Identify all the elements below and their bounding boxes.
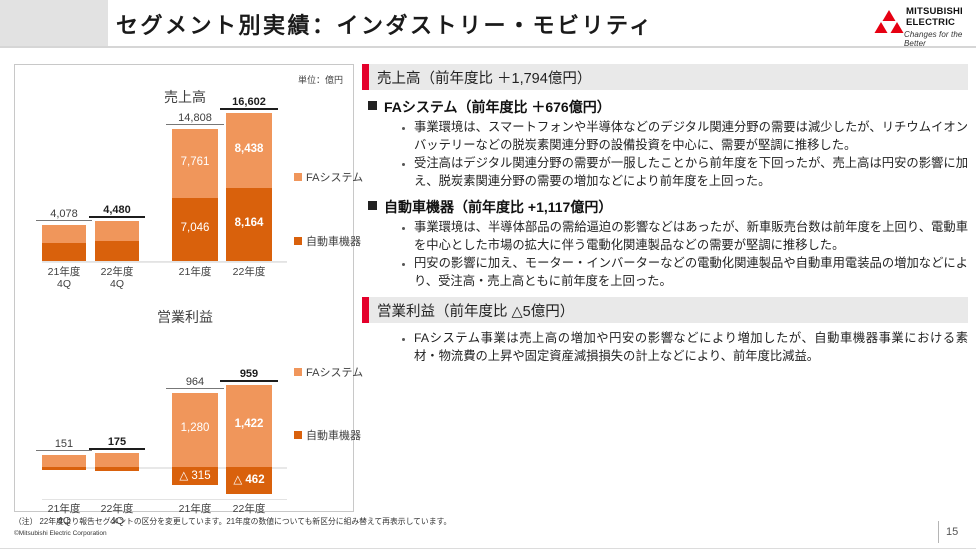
- legend-label: 自動車機器: [306, 236, 361, 248]
- fa-segment-value: 8,438: [226, 143, 272, 155]
- bar-segment-fa: [95, 453, 139, 467]
- legend-item-fa-system: FAシステム: [294, 169, 363, 185]
- legend-item-automotive: 自動車機器: [294, 427, 361, 443]
- automotive-segment-value: 7,046: [172, 222, 218, 234]
- bullet-text: 円安の影響に加え、モーター・インバーターなどの電動化関連製品や自動車用電装品の増…: [414, 255, 968, 290]
- charts-panel: 単位：億円 売上高 4,07821年度4Q4,48022年度4Q14,8087,…: [14, 64, 354, 512]
- section-accent-bar: [362, 64, 369, 90]
- chart-axis-line: [42, 499, 287, 500]
- total-value-label: 959: [220, 368, 278, 382]
- footnote: （注） 22年度より報告セグメントの区分を変更しています。21年度の数値について…: [14, 516, 451, 527]
- header-divider: [0, 46, 976, 48]
- category-label: 21年度: [164, 503, 226, 515]
- legend-swatch: [294, 431, 302, 439]
- bullet-dot-icon: [402, 338, 405, 341]
- operating-profit-chart: 営業利益 15121年度4Q17522年度4Q9641,280△ 31521年度…: [15, 287, 355, 513]
- bullet-text: FAシステム事業は売上高の増加や円安の影響などにより増加したが、自動車機器事業に…: [414, 330, 968, 365]
- section-heading-text: 売上高（前年度比 ＋1,794億円）: [369, 67, 591, 88]
- sub-heading-text: 自動車機器（前年度比 +1,117億円）: [384, 197, 612, 217]
- legend-swatch: [294, 368, 302, 376]
- bullet-dot-icon: [402, 127, 405, 130]
- legend-label: FAシステム: [306, 367, 363, 379]
- category-label: 22年度: [218, 266, 280, 278]
- bullet-dot-icon: [402, 227, 405, 230]
- bullet-list: 事業環境は、半導体部品の需給逼迫の影響などはあったが、新車販売台数は前年度を上回…: [402, 219, 968, 290]
- sub-heading: FAシステム（前年度比 ＋676億円）: [368, 97, 968, 117]
- category-label-line1: 22年度: [87, 503, 147, 515]
- bar-segment-auto-negative: [42, 467, 86, 470]
- bullet-text: 事業環境は、スマートフォンや半導体などのデジタル関連分野の需要は減少したが、リチ…: [414, 119, 968, 154]
- list-item: FAシステム事業は売上高の増加や円安の影響などにより増加したが、自動車機器事業に…: [402, 330, 968, 365]
- automotive-segment-value: △ 462: [226, 472, 272, 486]
- fa-segment-value: 1,422: [226, 418, 272, 430]
- automotive-segment-value: 8,164: [226, 217, 272, 229]
- square-bullet-icon: [368, 101, 377, 110]
- copyright: ©Mitsubishi Electric Corporation: [14, 530, 107, 537]
- slide-header: セグメント別実績：インダストリー・モビリティ MITSUBISHI ELECTR…: [0, 0, 976, 48]
- page-number-divider: [938, 521, 939, 543]
- slide: セグメント別実績：インダストリー・モビリティ MITSUBISHI ELECTR…: [0, 0, 976, 551]
- list-item: 事業環境は、半導体部品の需給逼迫の影響などはあったが、新車販売台数は前年度を上回…: [402, 219, 968, 254]
- mitsubishi-diamond-icon: [874, 9, 904, 33]
- bar-segment-auto-negative: [95, 467, 139, 471]
- fa-segment-value: 7,761: [172, 156, 218, 168]
- commentary-panel: 売上高（前年度比 ＋1,794億円）FAシステム（前年度比 ＋676億円）事業環…: [362, 64, 968, 366]
- mitsubishi-electric-logo: MITSUBISHI ELECTRIC Changes for the Bett…: [874, 6, 972, 42]
- square-bullet-icon: [368, 201, 377, 210]
- legend-label: FAシステム: [306, 172, 363, 184]
- category-label: 21年度: [164, 266, 226, 278]
- category-label: 22年度: [218, 503, 280, 515]
- bar-segment-fa: [95, 221, 139, 241]
- automotive-segment-value: △ 315: [172, 468, 218, 482]
- logo-wordmark: MITSUBISHI ELECTRIC: [906, 7, 963, 28]
- profit-chart-title: 営業利益: [15, 307, 355, 327]
- page-number: 15: [946, 526, 958, 538]
- legend-swatch: [294, 237, 302, 245]
- chart-axis-line: [42, 261, 287, 262]
- bar-segment-fa: [42, 225, 86, 244]
- total-value-label: 964: [166, 376, 224, 389]
- total-value-label: 14,808: [166, 112, 224, 125]
- list-item: 円安の影響に加え、モーター・インバーターなどの電動化関連製品や自動車用電装品の増…: [402, 255, 968, 290]
- page-title: セグメント別実績：インダストリー・モビリティ: [116, 8, 654, 40]
- total-value-label: 16,602: [220, 96, 278, 110]
- bullet-text: 受注高はデジタル関連分野の需要が一服したことから前年度を下回ったが、売上高は円安…: [414, 155, 968, 190]
- sales-revenue-chart: 売上高 4,07821年度4Q4,48022年度4Q14,8087,7617,0…: [15, 65, 355, 287]
- total-value-label: 4,480: [89, 204, 145, 218]
- legend-item-fa-system: FAシステム: [294, 364, 363, 380]
- section-accent-bar: [362, 297, 369, 323]
- sales-chart-title: 売上高: [15, 87, 355, 107]
- total-value-label: 175: [89, 436, 145, 450]
- bar-segment-auto: [95, 241, 139, 261]
- bullet-dot-icon: [402, 263, 405, 266]
- section-heading-text: 営業利益（前年度比 △5億円）: [369, 300, 574, 321]
- bullet-list: 事業環境は、スマートフォンや半導体などのデジタル関連分野の需要は減少したが、リチ…: [402, 119, 968, 190]
- total-value-label: 4,078: [36, 208, 92, 221]
- category-label-line1: 22年度: [218, 503, 280, 515]
- category-label-line1: 21年度: [34, 503, 94, 515]
- bullet-text: 事業環境は、半導体部品の需給逼迫の影響などはあったが、新車販売台数は前年度を上回…: [414, 219, 968, 254]
- fa-segment-value: 1,280: [172, 422, 218, 434]
- list-item: 受注高はデジタル関連分野の需要が一服したことから前年度を下回ったが、売上高は円安…: [402, 155, 968, 190]
- legend-item-automotive: 自動車機器: [294, 233, 361, 249]
- header-gray-band: [0, 0, 108, 46]
- sub-heading: 自動車機器（前年度比 +1,117億円）: [368, 197, 968, 217]
- list-item: 事業環境は、スマートフォンや半導体などのデジタル関連分野の需要は減少したが、リチ…: [402, 119, 968, 154]
- section-heading: 売上高（前年度比 ＋1,794億円）: [362, 64, 968, 90]
- category-label-line1: 22年度: [218, 266, 280, 278]
- category-label-line1: 21年度: [34, 266, 94, 278]
- category-label-line1: 22年度: [87, 266, 147, 278]
- bar-segment-auto: [42, 243, 86, 261]
- logo-tagline: Changes for the Better: [904, 30, 972, 48]
- sub-heading-text: FAシステム（前年度比 ＋676億円）: [384, 97, 611, 117]
- legend-swatch: [294, 173, 302, 181]
- logo-line-1: MITSUBISHI: [906, 7, 963, 18]
- section-heading: 営業利益（前年度比 △5億円）: [362, 297, 968, 323]
- category-label-line1: 21年度: [164, 266, 226, 278]
- bar-segment-fa: [42, 455, 86, 467]
- bullet-list: FAシステム事業は売上高の増加や円安の影響などにより増加したが、自動車機器事業に…: [402, 330, 968, 365]
- bullet-dot-icon: [402, 163, 405, 166]
- bottom-divider: [0, 548, 976, 549]
- legend-label: 自動車機器: [306, 430, 361, 442]
- logo-line-2: ELECTRIC: [906, 18, 963, 29]
- category-label-line1: 21年度: [164, 503, 226, 515]
- total-value-label: 151: [36, 438, 92, 451]
